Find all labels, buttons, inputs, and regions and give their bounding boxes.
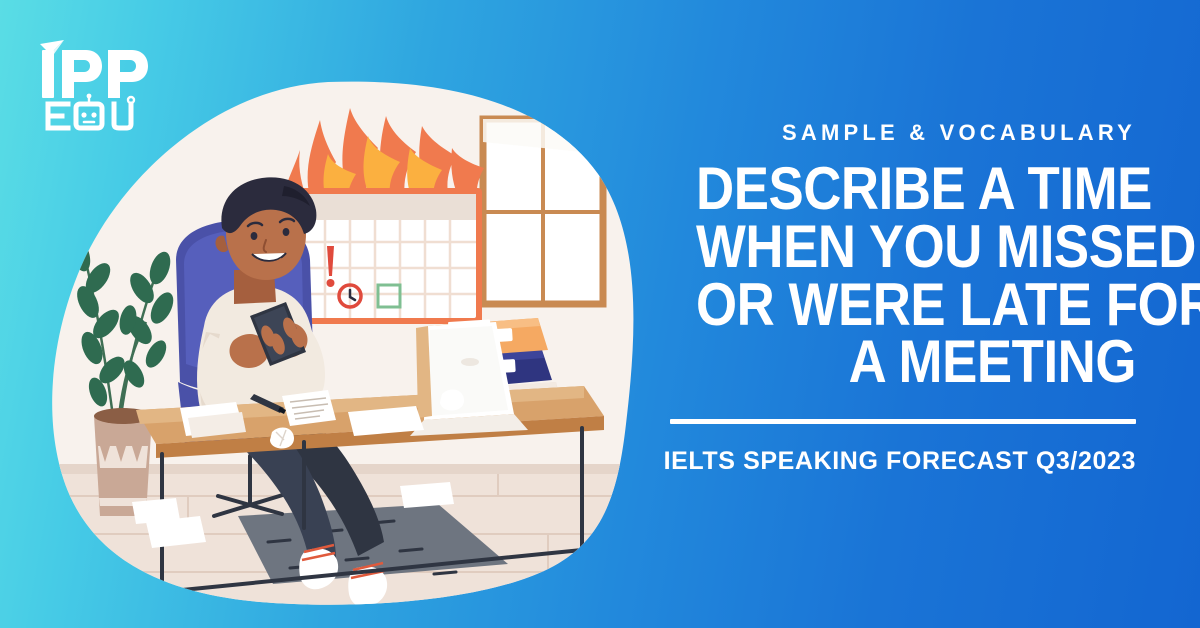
document bbox=[282, 390, 336, 426]
promo-banner: SAMPLE & VOCABULARY DESCRIBE A TIME WHEN… bbox=[0, 0, 1200, 628]
robot-face-icon bbox=[81, 94, 96, 122]
headline-block: SAMPLE & VOCABULARY DESCRIBE A TIME WHEN… bbox=[636, 120, 1136, 476]
crumpled-paper bbox=[270, 428, 294, 449]
title-line-3: OR WERE LATE FOR bbox=[696, 276, 1136, 334]
logo-edu bbox=[48, 104, 131, 128]
illustration bbox=[28, 64, 668, 624]
logo-accent-dot bbox=[128, 97, 134, 103]
divider bbox=[670, 419, 1136, 424]
page-title: DESCRIBE A TIME WHEN YOU MISSED OR WERE … bbox=[696, 160, 1136, 390]
footnote-text: IELTS SPEAKING FORECAST Q3/2023 bbox=[636, 446, 1136, 476]
title-line-2: WHEN YOU MISSED bbox=[696, 218, 1136, 276]
title-line-4: A MEETING bbox=[696, 333, 1136, 391]
logo-ipp bbox=[42, 50, 148, 98]
brand-logo[interactable] bbox=[34, 36, 184, 136]
window bbox=[483, 119, 603, 304]
title-line-1: DESCRIBE A TIME bbox=[696, 160, 1136, 218]
eyebrow-text: SAMPLE & VOCABULARY bbox=[636, 120, 1136, 146]
crumpled-paper bbox=[440, 390, 464, 411]
